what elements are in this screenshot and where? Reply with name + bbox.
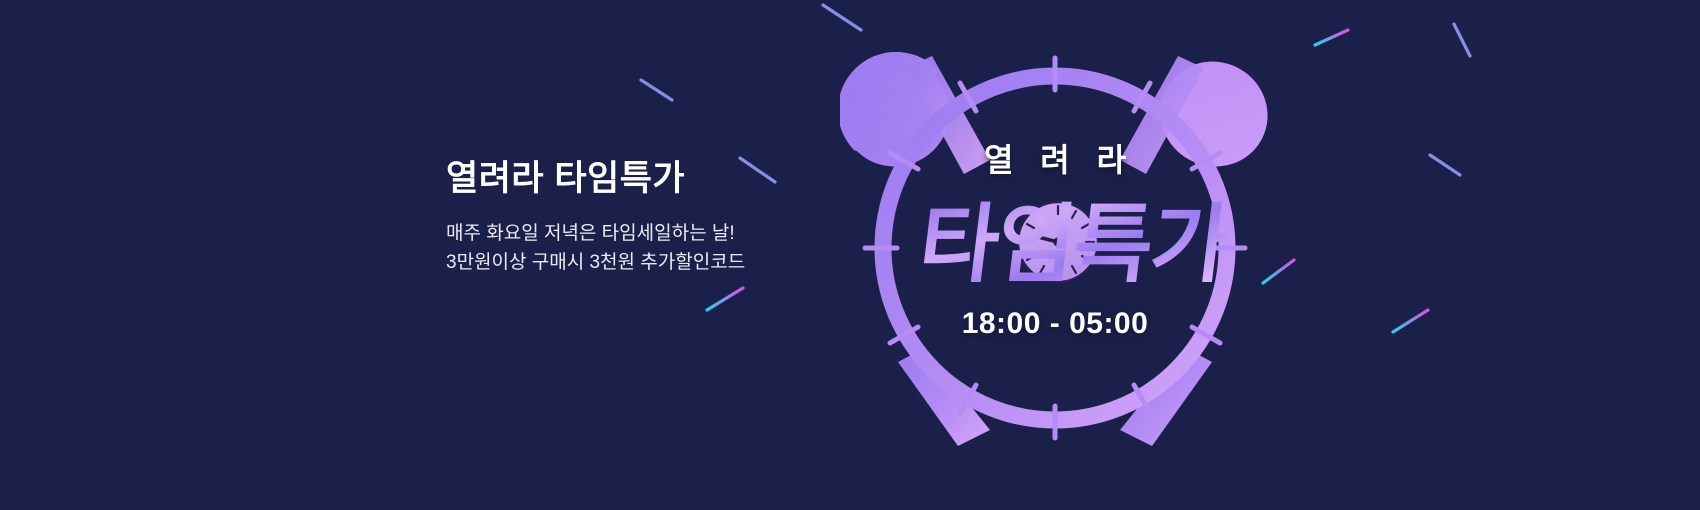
spark-line [1430, 155, 1460, 175]
promo-subtitle-line-1: 매주 화요일 저녁은 타임세일하는 날! [446, 223, 735, 244]
alarm-clock-icon [840, 10, 1270, 450]
alarm-clock-artwork: 타임특가 열 려 라 18:00 - 05:00 [840, 10, 1270, 450]
promo-subtitle: 매주 화요일 저녁은 타임세일하는 날! 3만원이상 구매시 3천원 추가할인코… [446, 200, 866, 277]
promo-subtitle-line-2: 3만원이상 구매시 3천원 추가할인코드 [446, 252, 745, 273]
page-title: 열려라 타임특가 [446, 158, 866, 200]
promo-copy: 열려라 타임특가 매주 화요일 저녁은 타임세일하는 날! 3만원이상 구매시 … [446, 158, 866, 277]
spark-line [641, 80, 672, 100]
promo-banner: 열려라 타임특가 매주 화요일 저녁은 타임세일하는 날! 3만원이상 구매시 … [0, 0, 1700, 510]
clock-face [1018, 202, 1098, 282]
spark-line [1315, 30, 1348, 45]
clock-center-dot [1053, 237, 1062, 246]
spark-line [1393, 310, 1428, 332]
spark-line [1454, 24, 1470, 56]
spark-line [707, 288, 743, 310]
